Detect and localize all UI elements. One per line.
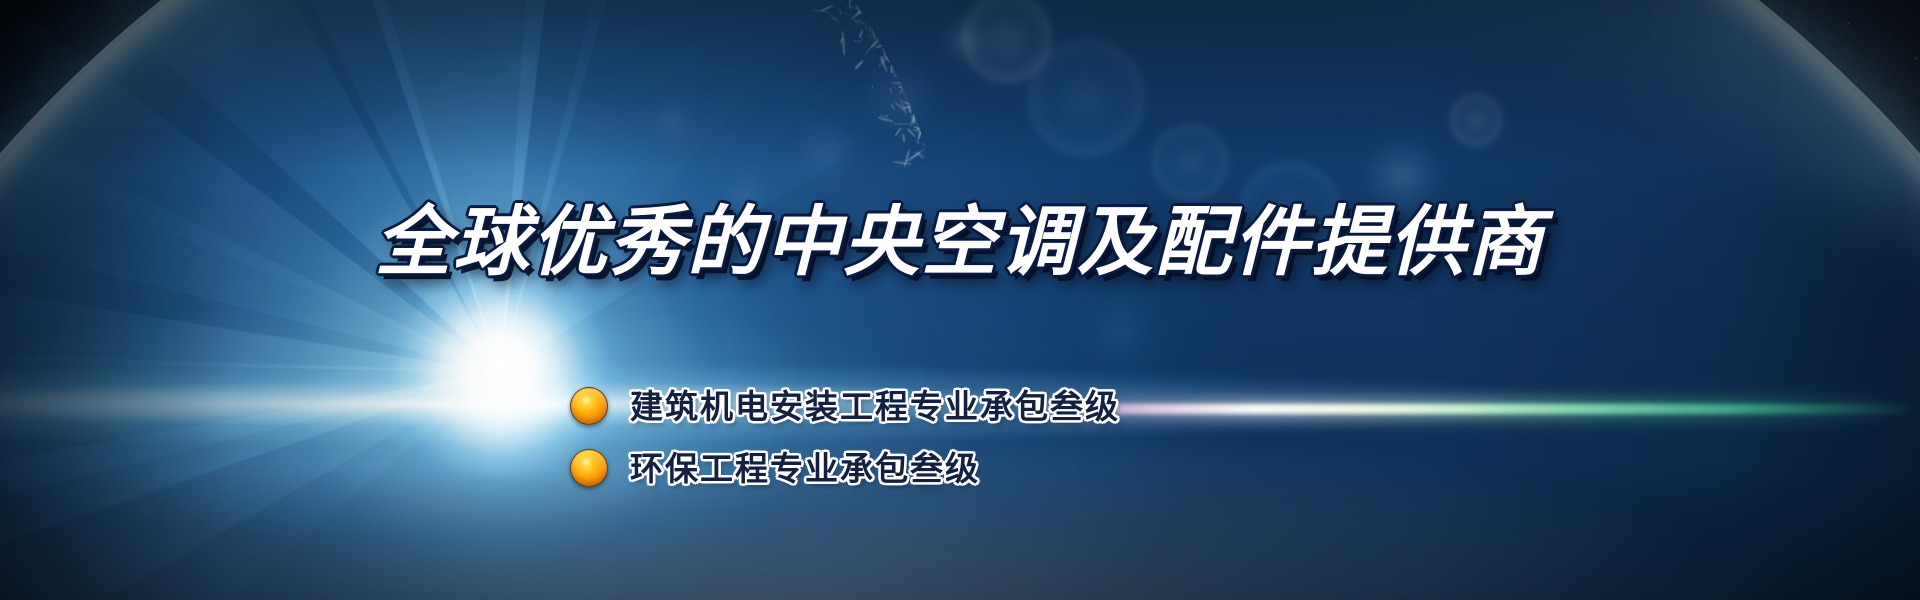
bullet-item-label: 环保工程专业承包叁级 <box>630 452 980 485</box>
bullet-item-label: 建筑机电安装工程专业承包叁级 <box>630 390 1120 423</box>
banner-bullet-list: 建筑机电安装工程专业承包叁级 环保工程专业承包叁级 <box>570 378 1120 502</box>
bullet-item: 建筑机电安装工程专业承包叁级 <box>570 378 1120 434</box>
bullet-item: 环保工程专业承包叁级 <box>570 440 1120 496</box>
hero-banner: 全球优秀的中央空调及配件提供商 建筑机电安装工程专业承包叁级 环保工程专业承包叁… <box>0 0 1920 600</box>
orange-dot-icon <box>570 387 608 425</box>
orange-dot-icon <box>570 449 608 487</box>
banner-headline: 全球优秀的中央空调及配件提供商 <box>0 198 1920 286</box>
banner-content: 全球优秀的中央空调及配件提供商 建筑机电安装工程专业承包叁级 环保工程专业承包叁… <box>0 0 1920 600</box>
